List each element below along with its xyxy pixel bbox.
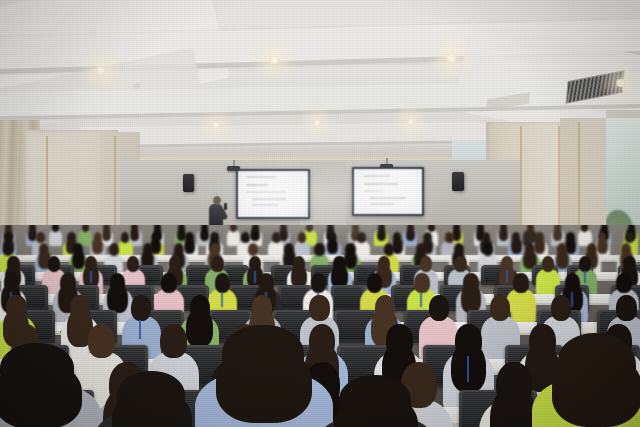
audience-member-head <box>160 324 187 358</box>
audience-member-head <box>628 225 635 232</box>
downlight-4 <box>616 79 626 87</box>
audience-member-head <box>513 273 529 293</box>
audience-member-head <box>621 243 631 256</box>
audience-member-head <box>6 295 26 321</box>
foreground-head <box>117 371 186 421</box>
audience-member-head <box>7 256 19 272</box>
audience-member-head <box>211 256 223 272</box>
audience-member-head <box>252 295 272 321</box>
downlight-1 <box>96 66 106 74</box>
audience-member-head <box>151 232 160 243</box>
audience-member-head <box>384 243 394 256</box>
audience-member-head <box>453 225 460 232</box>
audience-member-head <box>185 232 194 243</box>
downlight-3 <box>446 54 457 62</box>
downlight-7 <box>407 119 415 125</box>
audience-member-head <box>259 273 275 293</box>
audience-member-head <box>429 295 449 321</box>
audience-member-head <box>416 243 426 256</box>
presenter-head <box>213 196 221 205</box>
foreground-attendee-blue <box>212 325 316 421</box>
audience-member-head <box>378 225 385 232</box>
audience-member-head <box>542 256 554 272</box>
photo-lecture-hall: Wide photo of a large seminar room shot … <box>0 0 640 427</box>
audience-member-head <box>309 295 329 321</box>
audience-member-head <box>378 256 390 272</box>
audience-member-head <box>60 273 76 293</box>
audience-member-head <box>70 295 90 321</box>
audience-member-head <box>241 232 250 243</box>
audience-member-head <box>127 256 139 272</box>
audience-member-head <box>375 295 395 321</box>
audience-member-head <box>393 232 402 243</box>
audience-member-head <box>73 243 83 256</box>
audience-member-head <box>527 225 534 232</box>
audience-member-head <box>598 232 607 243</box>
audience-member-head <box>428 225 435 232</box>
audience-member-head <box>616 273 632 293</box>
lanyard <box>254 271 256 283</box>
audience-member-head <box>284 243 294 256</box>
downlight-6 <box>313 120 321 126</box>
audience-member-head <box>169 256 181 272</box>
audience-member-head <box>314 243 324 256</box>
audience-member-head <box>386 324 413 358</box>
audience-member-head <box>215 273 231 293</box>
audience-member-head <box>579 256 591 272</box>
audience-area <box>0 225 640 427</box>
audience-member-head <box>248 243 258 256</box>
audience-member-head <box>121 232 130 243</box>
projection-screen-left <box>236 169 310 219</box>
audience-member-head <box>566 232 575 243</box>
wall-speaker-left <box>183 174 194 192</box>
audience-member-head <box>4 232 13 243</box>
audience-member-head <box>463 273 479 293</box>
downlight-5 <box>212 122 220 128</box>
downlight-9 <box>133 83 140 88</box>
audience-member-head <box>623 256 635 272</box>
audience-member-head <box>407 225 414 232</box>
audience-member-head <box>625 232 634 243</box>
audience-member-head <box>445 232 454 243</box>
audience-member-head <box>525 243 535 256</box>
audience-member-head <box>249 256 261 272</box>
audience-member-head <box>512 232 521 243</box>
audience-member-head <box>311 273 327 293</box>
audience-member-head <box>131 295 151 321</box>
audience-member-head <box>39 243 49 256</box>
audience-member-head <box>52 225 59 232</box>
audience-member-head <box>357 232 366 243</box>
downlight-2 <box>269 56 280 64</box>
audience-member-head <box>367 273 383 293</box>
audience-member-head <box>109 243 119 256</box>
foreground-head <box>339 375 411 427</box>
audience-member-head <box>230 225 237 232</box>
audience-member-head <box>88 324 115 358</box>
audience-member-head <box>454 256 466 272</box>
audience-member-head <box>455 324 482 358</box>
foreground-head <box>0 343 74 395</box>
audience-member-head <box>293 256 305 272</box>
audience-member-head <box>4 273 20 293</box>
audience-member-head <box>454 243 464 256</box>
audience-member-head <box>85 256 97 272</box>
audience-member-head <box>298 232 307 243</box>
audience-member-head <box>482 232 491 243</box>
audience-member-head <box>557 243 567 256</box>
audience-member-head <box>82 225 89 232</box>
foreground-attendee-grey <box>0 343 86 427</box>
audience-member-head <box>67 232 76 243</box>
foreground-attendee-dark-2 <box>330 375 422 427</box>
audience-member-head <box>501 256 513 272</box>
projection-screen-right <box>352 167 424 216</box>
audience-member-head <box>94 232 103 243</box>
audience-member-head <box>496 362 532 408</box>
audience-member-head <box>333 256 345 272</box>
audience-member-head <box>252 225 259 232</box>
foreground-head <box>222 325 303 385</box>
audience-member-head <box>420 256 432 272</box>
wall-speaker-right <box>452 172 464 191</box>
audience-member-head <box>210 243 220 256</box>
microphone-icon <box>224 203 227 210</box>
audience-member-head <box>174 243 184 256</box>
audience-member-head <box>190 295 210 321</box>
audience-member-head <box>535 232 544 243</box>
audience-member-head <box>36 232 45 243</box>
audience-member-head <box>154 225 161 232</box>
audience-member-head <box>210 232 219 243</box>
audience-member-head <box>3 243 13 256</box>
audience-member-head <box>280 225 287 232</box>
foreground-head <box>558 333 634 390</box>
audience-member-head <box>272 232 281 243</box>
audience-member-head <box>587 243 597 256</box>
audience-member-head <box>328 232 337 243</box>
lanyard <box>506 271 508 283</box>
audience-member-head <box>500 225 507 232</box>
audience-member-head <box>601 225 608 232</box>
audience-member-head <box>490 295 510 321</box>
foreground-attendee-yellow <box>548 333 640 425</box>
audience-member-head <box>477 225 484 232</box>
audience-member-head <box>565 273 581 293</box>
audience-member-head <box>103 225 110 232</box>
foreground-attendee-dark <box>108 371 196 427</box>
audience-member-head <box>110 273 126 293</box>
audience-member-head <box>345 243 355 256</box>
audience-member-head <box>5 225 12 232</box>
audience-member-head <box>352 225 359 232</box>
audience-member-head <box>616 295 636 321</box>
audience-member-head <box>551 295 571 321</box>
audience-member-head <box>201 225 208 232</box>
audience-member-head <box>143 243 153 256</box>
audience-member-head <box>483 243 493 256</box>
audience-member-head <box>423 232 432 243</box>
audience-member-head <box>414 273 430 293</box>
audience-member-head <box>161 273 177 293</box>
audience-member-head <box>48 256 60 272</box>
